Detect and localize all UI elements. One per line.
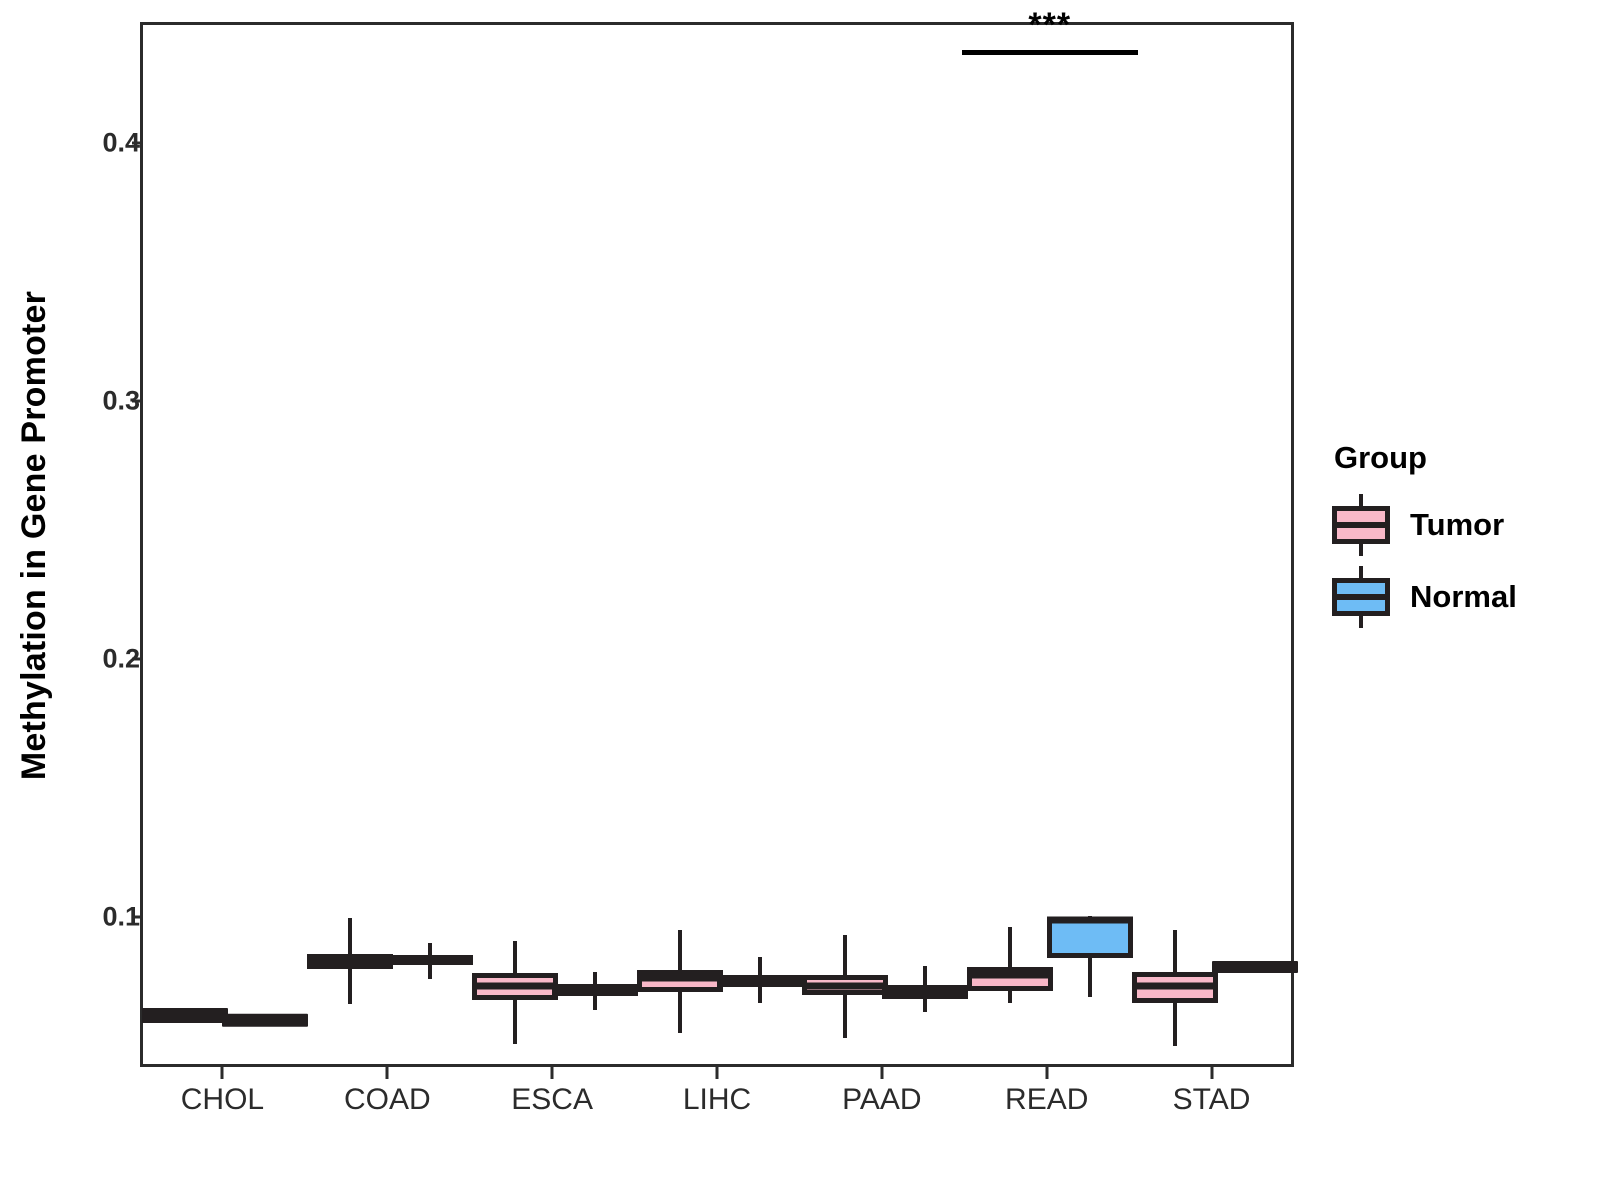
x-tick-mark [1210, 1067, 1213, 1079]
legend: Group TumorNormal [1330, 440, 1590, 638]
legend-whisker-bottom [1359, 615, 1363, 628]
x-tick-mark [880, 1067, 883, 1079]
legend-key-tumor [1330, 494, 1392, 556]
x-tick-label-stad: STAD [1173, 1083, 1251, 1117]
y-tick-label: 0.3 [76, 386, 140, 417]
x-tick-label-lihc: LIHC [683, 1083, 751, 1117]
x-tick-mark [221, 1067, 224, 1079]
x-tick-mark [386, 1067, 389, 1079]
boxplot-figure: Methylation in Gene Promoter 0.10.20.30.… [0, 0, 1600, 1200]
boxplot-stad-normal [143, 25, 1291, 1064]
legend-title: Group [1334, 440, 1590, 476]
legend-item-normal[interactable]: Normal [1330, 566, 1590, 628]
y-tick-label: 0.2 [76, 644, 140, 675]
plot-panel: *** [140, 22, 1294, 1067]
legend-median-line [1332, 522, 1390, 528]
x-tick-mark [1045, 1067, 1048, 1079]
legend-item-tumor[interactable]: Tumor [1330, 494, 1590, 556]
y-axis: 0.10.20.30.4 [66, 0, 140, 1200]
legend-whisker-bottom [1359, 543, 1363, 556]
legend-label: Normal [1410, 579, 1517, 615]
y-axis-title: Methylation in Gene Promoter [0, 0, 70, 1070]
x-tick-label-paad: PAAD [842, 1083, 921, 1117]
significance-stars: *** [1028, 8, 1071, 42]
legend-key-normal [1330, 566, 1392, 628]
legend-median-line [1332, 594, 1390, 600]
x-tick-label-read: READ [1005, 1083, 1088, 1117]
y-tick-label: 0.4 [76, 128, 140, 159]
legend-label: Tumor [1410, 507, 1504, 543]
x-axis: CHOLCOADESCALIHCPAADREADSTAD [140, 1067, 1294, 1137]
x-tick-label-chol: CHOL [181, 1083, 264, 1117]
x-tick-label-esca: ESCA [511, 1083, 593, 1117]
legend-entries: TumorNormal [1330, 494, 1590, 628]
x-tick-mark [551, 1067, 554, 1079]
plot-area: *** [143, 25, 1291, 1064]
y-axis-title-text: Methylation in Gene Promoter [16, 290, 55, 779]
box-rect [1212, 961, 1298, 973]
x-tick-label-coad: COAD [344, 1083, 431, 1117]
significance-bracket [962, 50, 1138, 55]
x-tick-mark [716, 1067, 719, 1079]
y-tick-label: 0.1 [76, 902, 140, 933]
